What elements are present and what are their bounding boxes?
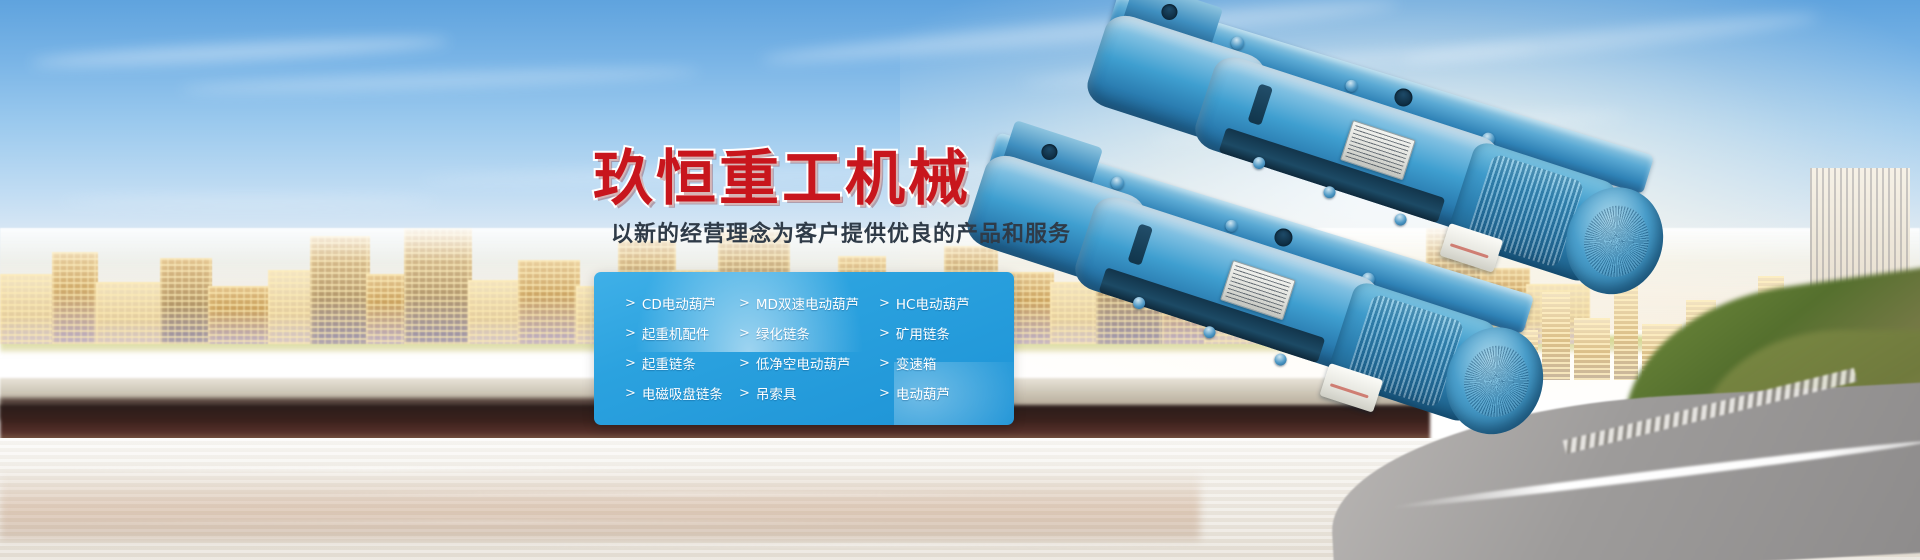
product-link-label: 电磁吸盘链条 (642, 383, 723, 403)
product-link[interactable]: >电磁吸盘链条 (625, 378, 739, 408)
product-link[interactable]: >吊索具 (739, 378, 879, 408)
product-link[interactable]: >CD电动葫芦 (625, 288, 739, 318)
chevron-right-icon: > (625, 326, 636, 341)
product-link-label: 绿化链条 (756, 323, 810, 343)
chevron-right-icon: > (879, 386, 890, 401)
promotional-banner: 玖恒重工机械 以新的经营理念为客户提供优良的产品和服务 >CD电动葫芦>MD双速… (0, 0, 1920, 560)
product-link[interactable]: >起重机配件 (625, 318, 739, 348)
chevron-right-icon: > (739, 386, 750, 401)
product-link[interactable]: >矿用链条 (879, 318, 1014, 348)
chevron-right-icon: > (879, 326, 890, 341)
chevron-right-icon: > (625, 296, 636, 311)
product-link[interactable]: >低净空电动葫芦 (739, 348, 879, 378)
product-links-grid: >CD电动葫芦>MD双速电动葫芦>HC电动葫芦>起重机配件>绿化链条>矿用链条>… (594, 288, 1014, 408)
product-link[interactable]: >HC电动葫芦 (879, 288, 1014, 318)
company-headline: 玖恒重工机械 (593, 130, 971, 217)
chevron-right-icon: > (739, 326, 750, 341)
company-slogan: 以新的经营理念为客户提供优良的产品和服务 (611, 216, 1071, 248)
product-link-label: MD双速电动葫芦 (756, 293, 859, 313)
product-link-label: CD电动葫芦 (642, 293, 716, 313)
product-link-label: 起重链条 (642, 353, 696, 373)
product-link[interactable]: >绿化链条 (739, 318, 879, 348)
product-link-label: 低净空电动葫芦 (756, 353, 851, 373)
road-warm-reflection (0, 470, 1200, 540)
product-link-label: HC电动葫芦 (896, 293, 970, 313)
chevron-right-icon: > (879, 296, 890, 311)
cloud-wisp (60, 196, 440, 207)
product-link-label: 电动葫芦 (896, 383, 950, 403)
product-link[interactable]: >MD双速电动葫芦 (739, 288, 879, 318)
product-link-label: 起重机配件 (642, 323, 710, 343)
chevron-right-icon: > (625, 356, 636, 371)
product-link-label: 矿用链条 (896, 323, 950, 343)
product-link-label: 变速箱 (896, 353, 937, 373)
product-link[interactable]: >电动葫芦 (879, 378, 1014, 408)
chevron-right-icon: > (739, 296, 750, 311)
chevron-right-icon: > (879, 356, 890, 371)
product-link-label: 吊索具 (756, 383, 797, 403)
chevron-right-icon: > (739, 356, 750, 371)
product-link[interactable]: >起重链条 (625, 348, 739, 378)
chevron-right-icon: > (625, 386, 636, 401)
product-link[interactable]: >变速箱 (879, 348, 1014, 378)
product-links-panel: >CD电动葫芦>MD双速电动葫芦>HC电动葫芦>起重机配件>绿化链条>矿用链条>… (594, 272, 1014, 425)
